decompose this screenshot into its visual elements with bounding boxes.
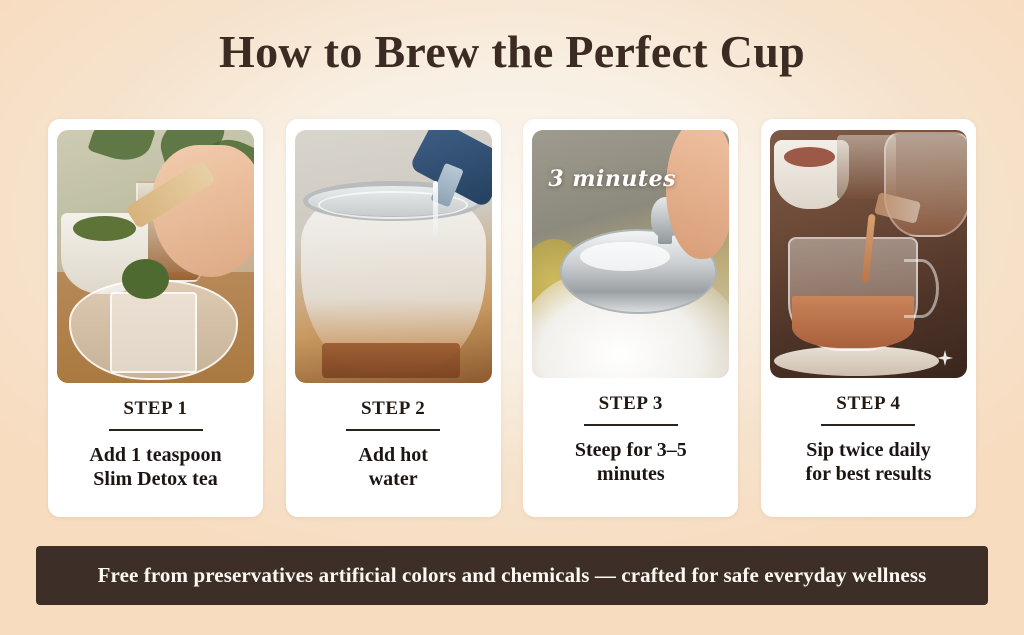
sparkle-icon bbox=[937, 350, 953, 366]
step-4-divider bbox=[821, 424, 915, 426]
step-4-photo bbox=[770, 130, 967, 378]
step-3-description: Steep for 3–5 minutes bbox=[567, 438, 695, 487]
banner-text: Free from preservatives artificial color… bbox=[98, 563, 927, 588]
step-3-label: STEP 3 bbox=[599, 393, 663, 415]
step-1-description: Add 1 teaspoon Slim Detox tea bbox=[81, 443, 229, 492]
step-3-divider bbox=[584, 424, 678, 426]
bottom-banner: Free from preservatives artificial color… bbox=[36, 546, 988, 605]
step-3-photo: 3 minutes bbox=[532, 130, 729, 378]
step-card-1: STEP 1 Add 1 teaspoon Slim Detox tea bbox=[48, 119, 263, 517]
step-card-2: STEP 2 Add hot water bbox=[286, 119, 501, 517]
step-card-3: 3 minutes STEP 3 Steep for 3–5 minutes bbox=[523, 119, 738, 517]
step-card-4: STEP 4 Sip twice daily for best results bbox=[761, 119, 976, 517]
step-1-divider bbox=[109, 429, 203, 431]
step-2-label: STEP 2 bbox=[361, 398, 425, 420]
step-4-label: STEP 4 bbox=[836, 393, 900, 415]
step-2-description: Add hot water bbox=[350, 443, 435, 492]
step-2-photo bbox=[295, 130, 492, 383]
infographic-page: How to Brew the Perfect Cup bbox=[0, 0, 1024, 635]
step-2-divider bbox=[346, 429, 440, 431]
page-title: How to Brew the Perfect Cup bbox=[0, 25, 1024, 78]
step-3-overlay-caption: 3 minutes bbox=[548, 166, 676, 192]
step-1-photo bbox=[57, 130, 254, 383]
steps-card-row: STEP 1 Add 1 teaspoon Slim Detox tea STE… bbox=[48, 119, 976, 517]
step-4-description: Sip twice daily for best results bbox=[798, 438, 940, 487]
step-1-label: STEP 1 bbox=[123, 398, 187, 420]
